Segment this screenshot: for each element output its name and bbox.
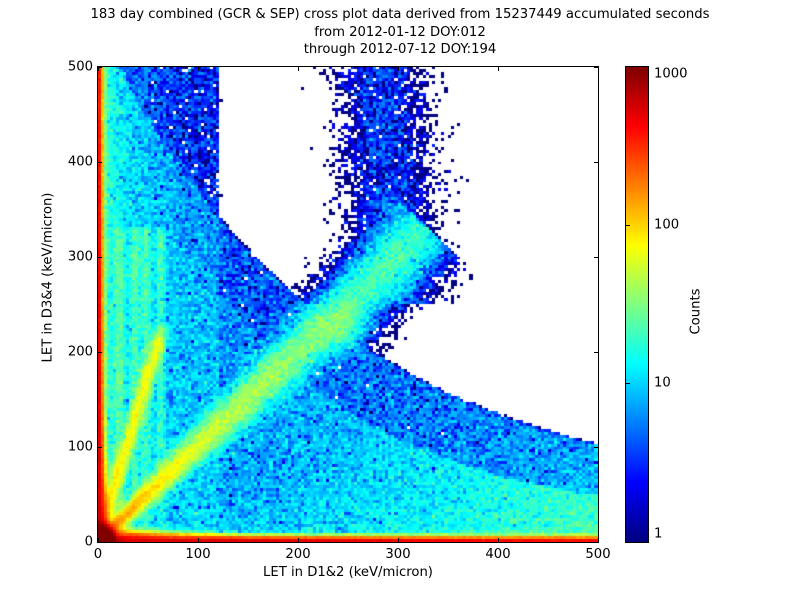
y-tick-label: 400 [68, 155, 93, 170]
y-tick [594, 352, 598, 353]
x-tick [298, 538, 299, 542]
x-tick-label: 500 [585, 547, 610, 562]
y-tick [594, 162, 598, 163]
x-tick [398, 67, 399, 71]
y-tick-label: 300 [68, 250, 93, 265]
x-tick-label: 100 [185, 547, 210, 562]
title-line-1: 183 day combined (GCR & SEP) cross plot … [0, 6, 800, 24]
y-tick-label: 0 [85, 535, 93, 550]
x-axis-label: LET in D1&2 (keV/micron) [97, 565, 599, 580]
y-tick [594, 447, 598, 448]
plot-area[interactable] [97, 66, 599, 543]
y-tick [98, 257, 102, 258]
x-tick [598, 538, 599, 542]
colorbar-tick-label: 100 [654, 218, 679, 233]
x-tick [198, 538, 199, 542]
colorbar-tick-label: 1000 [654, 67, 688, 82]
y-tick [98, 67, 102, 68]
colorbar[interactable] [625, 66, 649, 543]
y-tick [98, 352, 102, 353]
x-tick-label: 0 [94, 547, 102, 562]
colorbar-tick [626, 225, 630, 226]
x-tick [198, 67, 199, 71]
title-line-2: from 2012-01-12 DOY:012 [0, 24, 800, 42]
y-tick-label: 200 [68, 345, 93, 360]
x-tick [398, 538, 399, 542]
x-tick [498, 67, 499, 71]
figure: 183 day combined (GCR & SEP) cross plot … [0, 0, 800, 600]
y-tick-label: 500 [68, 60, 93, 75]
y-tick [98, 162, 102, 163]
colorbar-gradient [626, 67, 648, 542]
chart-title: 183 day combined (GCR & SEP) cross plot … [0, 6, 800, 59]
x-tick [298, 67, 299, 71]
colorbar-label: Counts [689, 212, 704, 412]
y-tick [98, 447, 102, 448]
colorbar-tick [626, 383, 630, 384]
colorbar-tick-label: 1 [654, 527, 662, 542]
x-tick-label: 400 [485, 547, 510, 562]
x-tick [498, 538, 499, 542]
y-tick [98, 542, 102, 543]
colorbar-tick-label: 10 [654, 376, 671, 391]
y-tick [594, 542, 598, 543]
scatter-heatmap-canvas [98, 67, 598, 542]
title-line-3: through 2012-07-12 DOY:194 [0, 41, 800, 59]
y-tick [594, 257, 598, 258]
x-tick [598, 67, 599, 71]
x-tick-label: 200 [285, 547, 310, 562]
x-tick-label: 300 [385, 547, 410, 562]
y-tick-label: 100 [68, 440, 93, 455]
y-axis-label: LET in D3&4 (keV/micron) [41, 78, 56, 478]
y-tick [594, 67, 598, 68]
